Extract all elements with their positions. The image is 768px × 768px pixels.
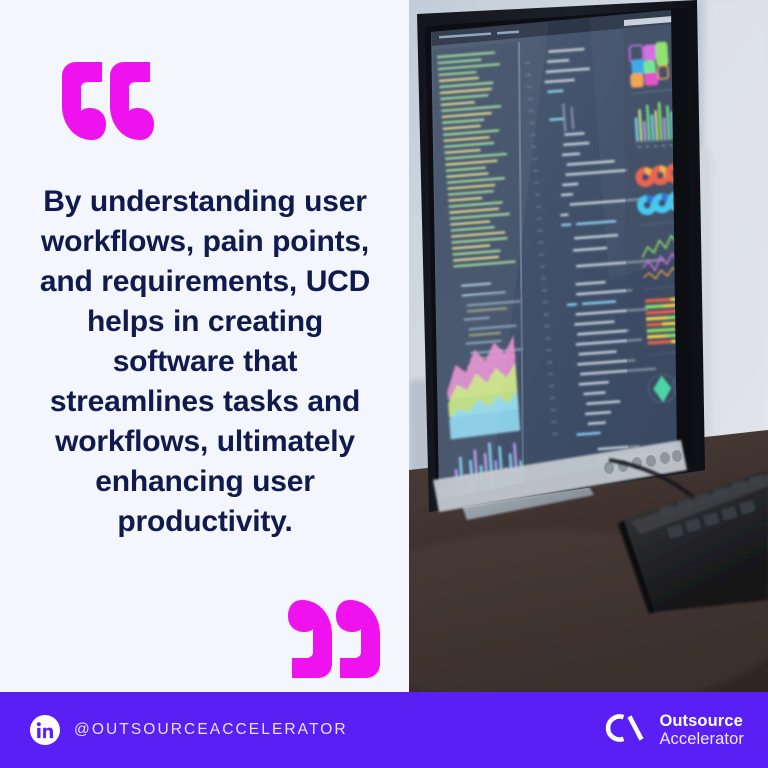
brand-line-accelerator: Accelerator [659,730,744,748]
workstation-photo [409,0,768,692]
linkedin-icon[interactable] [30,715,60,745]
quote-panel: By understanding user workflows, pain po… [0,0,409,692]
quote-text: By understanding user workflows, pain po… [36,182,374,542]
brand-lockup[interactable]: Outsource Accelerator [602,711,744,750]
brand-text: Outsource Accelerator [659,712,744,749]
quote-card: By understanding user workflows, pain po… [0,0,768,768]
footer-bar: @OUTSOURCEACCELERATOR Outsource Accelera… [0,692,768,768]
brand-line-outsource: Outsource [659,712,744,730]
close-quote-mark-icon [288,600,380,678]
open-quote-mark-icon [62,62,154,140]
outsource-accelerator-logo-icon [602,711,646,750]
social-handle-text[interactable]: @OUTSOURCEACCELERATOR [74,721,348,739]
social-handle-group[interactable]: @OUTSOURCEACCELERATOR [30,715,348,745]
